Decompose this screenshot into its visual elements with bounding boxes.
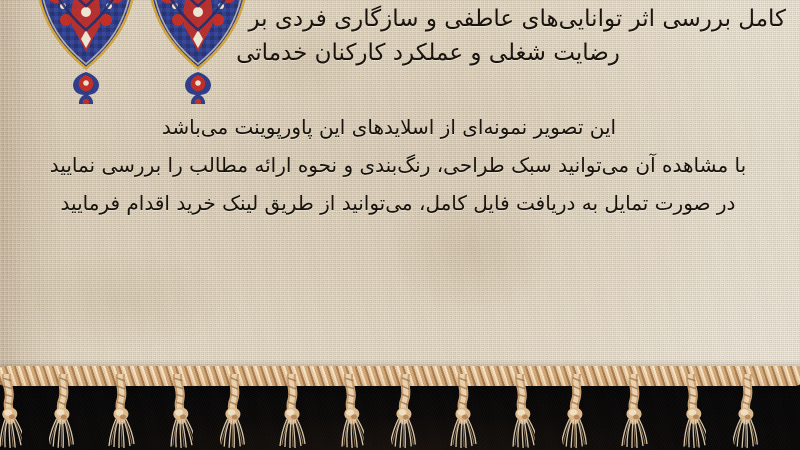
fringe-tassel	[619, 374, 649, 450]
title-line-1: کامل بررسی اثر توانایی‌های عاطفی و سازگا…	[100, 2, 790, 36]
fringe-tassel	[334, 374, 364, 450]
title-line-2: رضایت شغلی و عملکرد کارکنان خدماتی	[100, 36, 790, 70]
slide-title: کامل بررسی اثر توانایی‌های عاطفی و سازگا…	[100, 2, 790, 70]
body-line-1: این تصویر نمونه‌ای از اسلایدهای این پاور…	[10, 108, 788, 146]
slide-body: این تصویر نمونه‌ای از اسلایدهای این پاور…	[10, 108, 788, 222]
fringe-tassel	[505, 374, 535, 450]
fringe-tassel	[49, 374, 79, 450]
fringe-tassel	[163, 374, 193, 450]
fringe-tassel	[106, 374, 136, 450]
slide-canvas: کامل بررسی اثر توانایی‌های عاطفی و سازگا…	[0, 0, 800, 450]
body-line-3: در صورت تمایل به دریافت فایل کامل، می‌تو…	[10, 184, 788, 222]
fringe-tassel	[733, 374, 763, 450]
fringe-tassel	[391, 374, 421, 450]
fringe-tassel	[448, 374, 478, 450]
fringe-tassel	[562, 374, 592, 450]
body-line-2: با مشاهده آن می‌توانید سبک طراحی، رنگ‌بن…	[10, 146, 788, 184]
fringe-tassel	[220, 374, 250, 450]
fringe-tassel	[277, 374, 307, 450]
fringe-tassel	[0, 374, 22, 450]
fringe-tassel	[676, 374, 706, 450]
